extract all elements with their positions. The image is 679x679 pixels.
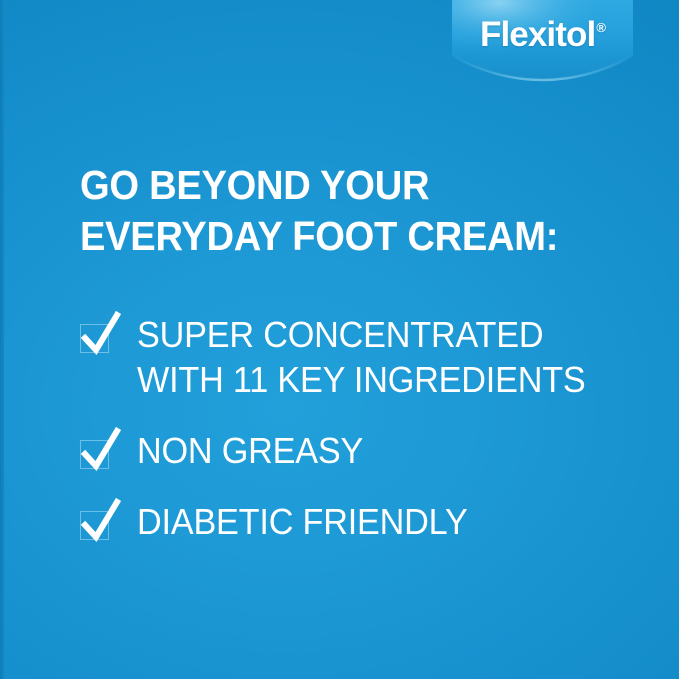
flexitol-logo-badge: Flexitol®: [452, 0, 633, 88]
checkmark-icon: [79, 311, 123, 357]
promo-panel: Flexitol® GO BEYOND YOUR EVERYDAY FOOT C…: [0, 0, 679, 679]
list-item: NON GREASY: [80, 428, 660, 473]
left-edge-accent-strip: [0, 0, 4, 679]
brand-name-text: Flexitol: [480, 15, 595, 55]
checkbox-checked-icon: [80, 324, 111, 355]
list-item: SUPER CONCENTRATED WITH 11 KEY INGREDIEN…: [80, 312, 660, 402]
checkmark-icon: [79, 427, 123, 473]
registered-trademark-icon: ®: [596, 21, 605, 34]
feature-label: DIABETIC FRIENDLY: [137, 499, 468, 544]
feature-label: SUPER CONCENTRATED WITH 11 KEY INGREDIEN…: [137, 312, 586, 402]
checkmark-icon: [79, 498, 123, 544]
page-title: GO BEYOND YOUR EVERYDAY FOOT CREAM:: [80, 160, 601, 262]
feature-label: NON GREASY: [137, 428, 363, 473]
flexitol-wordmark: Flexitol®: [452, 0, 633, 72]
checkbox-checked-icon: [80, 440, 111, 471]
feature-checklist: SUPER CONCENTRATED WITH 11 KEY INGREDIEN…: [80, 312, 660, 544]
headline-line-2: EVERYDAY FOOT CREAM:: [80, 211, 601, 262]
checkbox-checked-icon: [80, 511, 111, 542]
headline-line-1: GO BEYOND YOUR: [80, 160, 601, 211]
list-item: DIABETIC FRIENDLY: [80, 499, 660, 544]
